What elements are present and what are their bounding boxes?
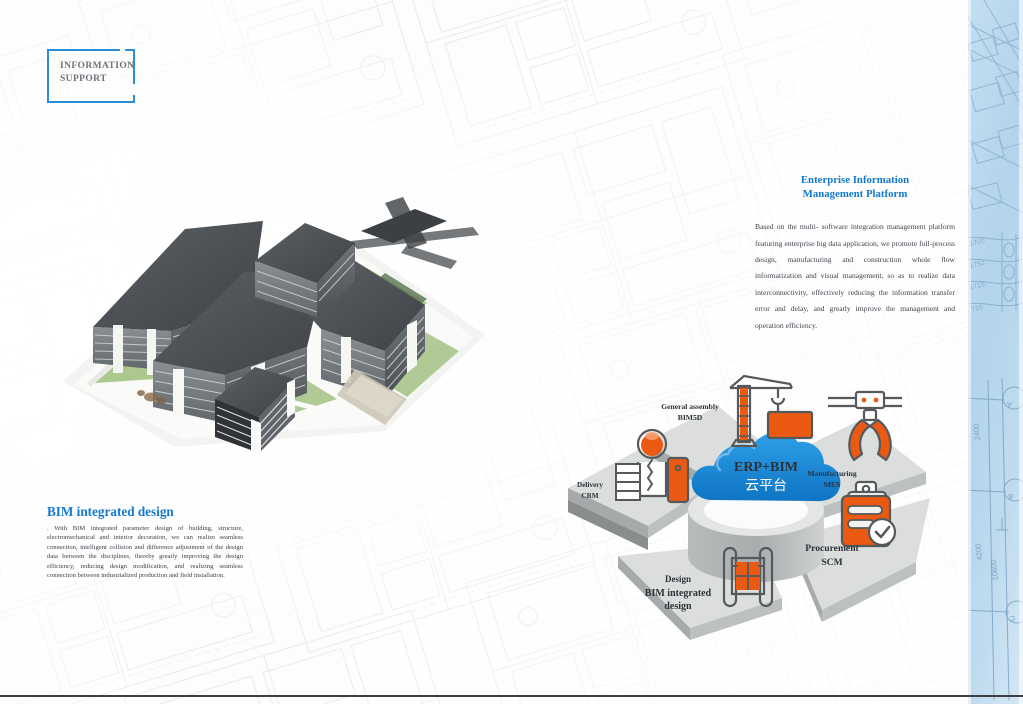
badge-border-top	[47, 49, 120, 51]
bim-heading: BIM integrated design	[47, 504, 243, 520]
enterprise-platform-text-block: Enterprise Information Management Platfo…	[755, 174, 955, 334]
enterprise-platform-body: Based on the multi- software integration…	[755, 219, 955, 334]
label-general-assembly-line1: General assembly	[661, 402, 719, 411]
building-render-illustration	[55, 185, 505, 470]
badge-label: INFORMATION SUPPORT	[60, 60, 140, 85]
label-procurement-line1: Procurement	[805, 543, 859, 554]
label-design-line1: Design	[665, 574, 691, 584]
label-general-assembly-line2: BIM5D	[678, 413, 703, 422]
diagram-svg: ERP+BIM 云平台	[560, 360, 960, 660]
blueprint-photo-strip: 1700 1752 1710 710 A B C 240	[968, 0, 1023, 704]
label-delivery-line2: CRM	[581, 492, 598, 500]
bim-building-render	[55, 185, 505, 470]
label-manufacturing-line2: MES	[824, 480, 840, 489]
erp-bim-platform-diagram: ERP+BIM 云平台	[560, 360, 960, 660]
label-procurement-line2: SCM	[821, 557, 842, 568]
tower-crane-icon	[730, 376, 812, 446]
hub-label-line1: ERP+BIM	[734, 460, 798, 475]
information-support-badge: INFORMATION SUPPORT	[47, 49, 129, 101]
label-design-line3: design	[664, 601, 692, 612]
badge-border-left	[47, 49, 49, 101]
enterprise-platform-heading: Enterprise Information Management Platfo…	[755, 174, 955, 201]
blueprint-strip-linework: 1700 1752 1710 710 A B C 240	[968, 0, 1023, 704]
hub-label-line2: 云平台	[745, 478, 787, 494]
page-root: 1700 1752 1710 710 A B C 240	[0, 0, 1023, 704]
bim-body: . With BIM integrated parameter design o…	[47, 524, 243, 580]
label-manufacturing-line1: Manufacturing	[807, 469, 857, 478]
label-delivery-line1: Delivery	[577, 481, 603, 489]
badge-border-bottom	[47, 101, 135, 103]
heading-line-1: Enterprise Information	[801, 174, 909, 186]
bim-integrated-design-text-block: BIM integrated design . With BIM integra…	[47, 504, 243, 580]
label-design-line2: BIM integrated	[645, 588, 712, 599]
heading-line-2: Management Platform	[803, 188, 908, 200]
bottom-divider-rule	[0, 695, 1023, 697]
